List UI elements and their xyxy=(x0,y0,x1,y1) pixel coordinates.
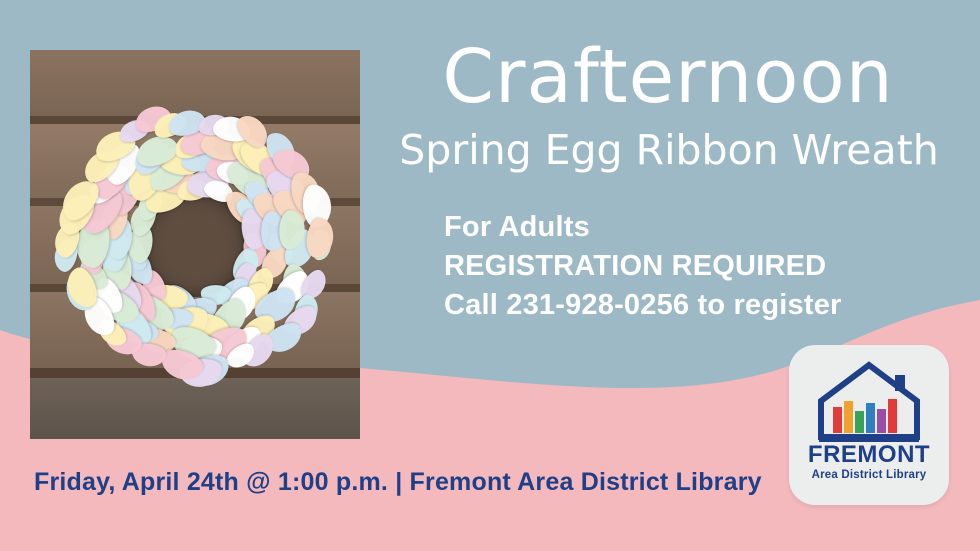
logo-tagline: Area District Library xyxy=(789,469,949,481)
detail-registration: REGISTRATION REQUIRED xyxy=(444,247,964,286)
page-subtitle: Spring Egg Ribbon Wreath xyxy=(362,128,976,173)
detail-audience: For Adults xyxy=(444,208,964,247)
logo-name: FREMONT xyxy=(789,441,949,469)
library-logo: FREMONT Area District Library xyxy=(789,345,949,505)
event-footer: Friday, April 24th @ 1:00 p.m. | Fremont… xyxy=(34,468,762,497)
page-title: Crafternoon xyxy=(368,40,968,114)
event-details: For Adults REGISTRATION REQUIRED Call 23… xyxy=(444,208,964,325)
wreath-photo xyxy=(30,50,360,439)
detail-phone: Call 231-928-0256 to register xyxy=(444,286,964,325)
library-house-icon xyxy=(789,345,949,505)
wreath-graphic xyxy=(49,99,341,391)
flyer-canvas: Crafternoon Spring Egg Ribbon Wreath For… xyxy=(0,0,980,551)
